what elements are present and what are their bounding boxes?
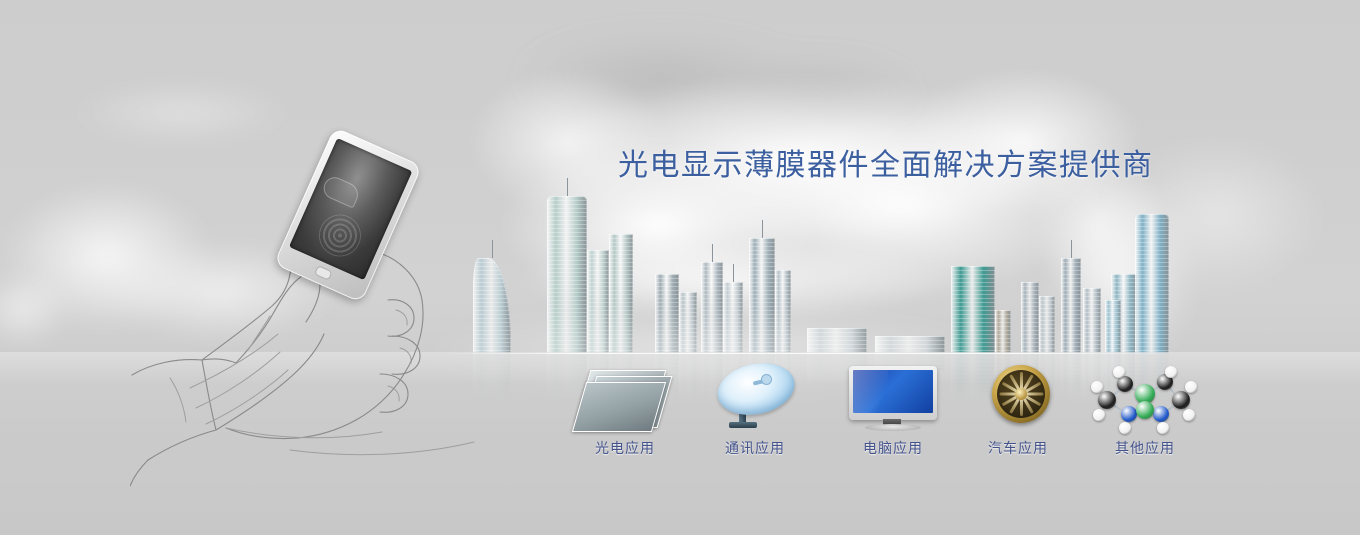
low-cluster-a	[807, 328, 867, 354]
molecule-atom-metal	[1136, 401, 1154, 419]
silver-tower-a	[1021, 282, 1039, 354]
office-block-a	[655, 274, 679, 354]
molecule-atom-carbon	[1098, 391, 1116, 409]
antenna-mast	[733, 264, 734, 282]
spire-tower-a	[701, 262, 723, 354]
slim-tower	[775, 270, 791, 354]
application-item-automotive: 汽车应用	[958, 362, 1078, 458]
cloud-backdrop	[470, 18, 950, 138]
mid-tower-a	[587, 250, 609, 354]
antenna-mast	[1071, 240, 1072, 258]
dish-reflector	[713, 356, 800, 421]
molecule-icon	[1085, 362, 1205, 432]
hand-holding-phone-line-art	[130, 120, 480, 500]
horizon-line	[445, 353, 1165, 354]
application-caption: 电脑应用	[833, 438, 953, 458]
antenna-mast	[762, 220, 763, 238]
tall-spire	[749, 238, 775, 354]
monitor-gloss	[853, 370, 888, 413]
molecule-atom-carbon	[1117, 376, 1133, 392]
silver-tower-c	[1083, 288, 1101, 354]
monitor-base	[865, 424, 921, 431]
molecule-atom-hydrogen	[1113, 366, 1125, 378]
phone-ripple-graphic	[312, 208, 367, 263]
mid-tower-b	[609, 234, 633, 354]
molecule-atom-hydrogen	[1183, 409, 1195, 421]
application-caption: 其他应用	[1085, 438, 1205, 458]
molecule-atom-hydrogen	[1165, 366, 1177, 378]
wheel-dish	[997, 370, 1045, 418]
silver-spire	[1061, 258, 1081, 354]
wheel-rim	[992, 365, 1050, 423]
dish-foot	[729, 422, 757, 428]
molecule-atom-hydrogen	[1157, 422, 1169, 434]
application-caption: 汽车应用	[958, 438, 1078, 458]
application-item-optoelectronic: 光电应用	[565, 362, 685, 458]
tall-glass-tower	[547, 196, 587, 354]
car-wheel-icon	[958, 362, 1078, 432]
promotional-banner: 光电显示薄膜器件全面解决方案提供商 光电应用 通讯应用	[0, 0, 1360, 535]
molecule-atom-hydrogen	[1185, 381, 1197, 393]
molecule-atom-hydrogen	[1093, 409, 1105, 421]
city-skyline-illustration	[455, 170, 1170, 354]
monitor-bezel	[849, 366, 937, 420]
blue-tower-side	[1105, 300, 1121, 354]
phone-screen-glyph	[320, 173, 362, 208]
application-item-computer: 电脑应用	[833, 362, 953, 458]
molecule-atom-hydrogen	[1119, 422, 1131, 434]
satellite-dish-icon	[695, 362, 815, 432]
wheel-hub	[1015, 388, 1027, 400]
silver-tower-b	[1039, 296, 1055, 354]
molecule-atom-hydrogen	[1091, 381, 1103, 393]
application-caption: 光电应用	[565, 438, 685, 458]
dish-lnb	[761, 374, 772, 385]
office-block-b	[679, 292, 697, 354]
application-caption: 通讯应用	[695, 438, 815, 458]
glass-panels-icon	[565, 362, 685, 432]
teal-tower	[951, 266, 995, 354]
grey-block	[995, 310, 1011, 354]
molecule-atom-nitrogen	[1121, 406, 1137, 422]
blue-tower-main	[1135, 214, 1169, 354]
spire-tower-b	[723, 282, 743, 354]
page-title: 光电显示薄膜器件全面解决方案提供商	[618, 140, 1154, 184]
molecule-atom-carbon	[1172, 391, 1190, 409]
molecule-atom-nitrogen	[1153, 406, 1169, 422]
application-item-communication: 通讯应用	[695, 362, 815, 458]
antenna-mast	[567, 178, 568, 196]
computer-monitor-icon	[833, 362, 953, 432]
low-cluster-b	[875, 336, 945, 354]
antenna-mast	[492, 240, 493, 258]
application-item-other: 其他应用	[1085, 362, 1205, 458]
antenna-mast	[712, 244, 713, 262]
